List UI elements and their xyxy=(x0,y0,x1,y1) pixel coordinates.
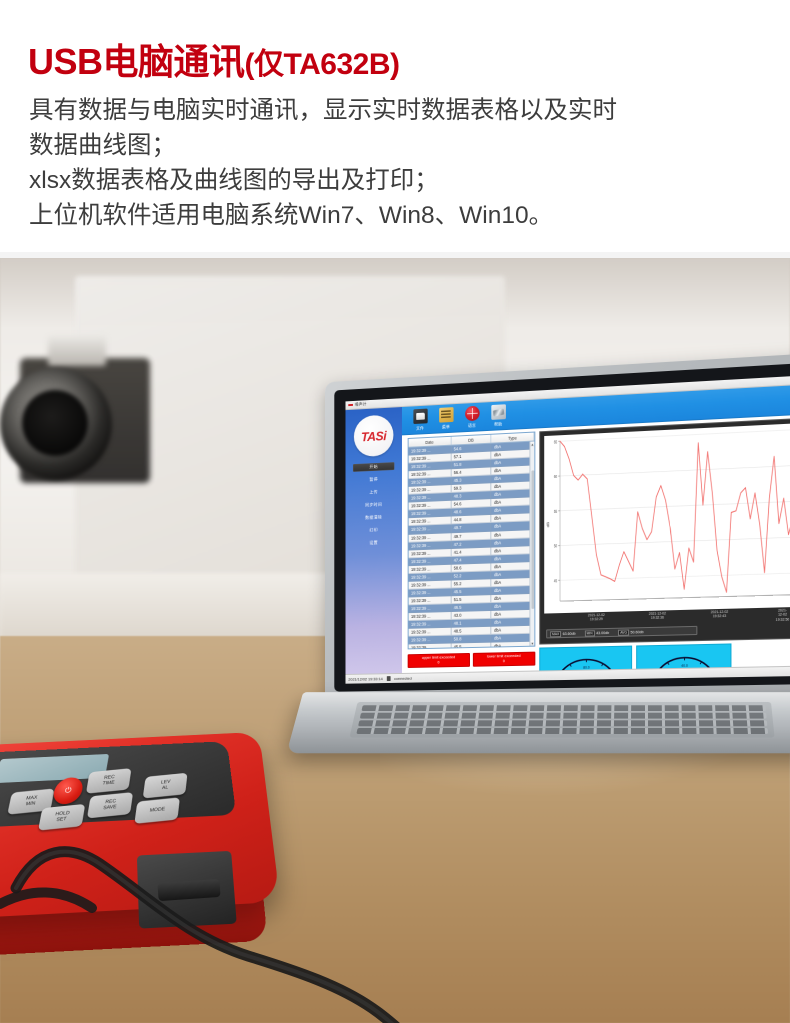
svg-text:55: 55 xyxy=(554,509,557,514)
status-timestamp: 2021/12/02 19:33:14 xyxy=(348,676,382,681)
globe-icon xyxy=(465,406,480,422)
menu-list-icon xyxy=(439,407,453,423)
toolbar-button-label: 帮助 xyxy=(494,421,502,427)
laptop-bezel: 噪声计 TASi 开始暂停上传同步时间数据清除打印设置 文件菜单语言帮助 xyxy=(334,363,790,692)
device-power-key[interactable]: ⏻ xyxy=(51,776,84,805)
page-title-main: USB电脑通讯 xyxy=(28,41,245,82)
device-key-level[interactable]: LEVAL xyxy=(143,773,188,799)
sidebar-item-label: 设置 xyxy=(369,540,377,546)
page-title: USB电脑通讯(仅TA632B) xyxy=(28,33,399,85)
toolbar-button-1[interactable]: 文件 xyxy=(410,408,431,431)
sidebar-item-1[interactable]: 开始 xyxy=(353,462,394,472)
background-camera-lens-inner xyxy=(22,390,88,456)
svg-text:60: 60 xyxy=(554,474,557,479)
toolbar-button-label: 语言 xyxy=(468,422,476,428)
toolbar-button-4[interactable]: 帮助 xyxy=(487,404,508,427)
toolbar-button-label: 文件 xyxy=(416,425,424,431)
content-area: Date DB Type 19:32:39 ...54.6dbA19:32:39… xyxy=(402,415,790,673)
sidebar-item-6[interactable]: 打印 xyxy=(353,526,394,535)
laptop-base xyxy=(286,692,790,753)
sidebar-item-3[interactable]: 上传 xyxy=(353,488,394,498)
product-photo-scene: 噪声计 TASi 开始暂停上传同步时间数据清除打印设置 文件菜单语言帮助 xyxy=(0,258,790,1023)
usb-plug-icon xyxy=(387,676,391,681)
sidebar-item-label: 上传 xyxy=(369,489,377,495)
scroll-down-icon[interactable]: ▼ xyxy=(530,641,534,646)
application-window: 噪声计 TASi 开始暂停上传同步时间数据清除打印设置 文件菜单语言帮助 xyxy=(345,375,790,683)
table-body[interactable]: 19:32:39 ...54.6dbA19:32:39 ...57.1dbA19… xyxy=(409,442,535,649)
device-key-rectime[interactable]: RECTIME xyxy=(86,768,132,794)
svg-text:dB: dB xyxy=(547,521,550,527)
chart-stat-value: 63.60db xyxy=(563,631,576,635)
chart-stat-key: MIN xyxy=(585,630,595,636)
sidebar-item-4[interactable]: 同步时间 xyxy=(353,500,394,510)
window-title: 噪声计 xyxy=(355,401,367,407)
svg-text:45: 45 xyxy=(554,579,557,584)
chart-plot-area: 4550556065dB xyxy=(544,423,790,613)
background-camera-top xyxy=(48,336,106,366)
toolbar-button-2[interactable]: 菜单 xyxy=(435,407,456,430)
scroll-up-icon[interactable]: ▲ xyxy=(530,442,534,447)
brand-logo-text: TASi xyxy=(361,429,386,443)
chart-x-tick-label: 2021-12-02 19:32:43 xyxy=(711,610,728,619)
brand-logo: TASi xyxy=(354,414,394,457)
sidebar-item-label: 暂停 xyxy=(369,477,377,483)
sidebar-item-2[interactable]: 暂停 xyxy=(353,475,394,485)
sidebar-item-label: 打印 xyxy=(369,527,377,533)
upper-limit-alert[interactable]: upper limit exceeded 0 xyxy=(408,653,470,668)
laptop-lid: 噪声计 TASi 开始暂停上传同步时间数据清除打印设置 文件菜单语言帮助 xyxy=(325,353,790,702)
cell-date: 19:32:39 ... xyxy=(409,644,452,649)
chart-x-tick-label: 2021-12-02 19:32:36 xyxy=(649,611,666,620)
table-scrollbar[interactable]: ▲ ▼ xyxy=(529,442,534,646)
chart-stat-key: AVG xyxy=(618,629,629,635)
chart-stat-chip: MAX63.60db xyxy=(550,630,575,637)
lower-limit-alert[interactable]: lower limit exceeded 0 xyxy=(472,652,535,667)
sidebar: TASi 开始暂停上传同步时间数据清除打印设置 xyxy=(345,407,401,674)
upper-limit-count: 0 xyxy=(437,660,439,665)
lower-limit-count: 0 xyxy=(503,659,505,664)
svg-text:65: 65 xyxy=(554,440,557,445)
laptop-screen: 噪声计 TASi 开始暂停上传同步时间数据清除打印设置 文件菜单语言帮助 xyxy=(345,375,790,683)
page-description: 具有数据与电脑实时通讯，显示实时数据表格以及实时 数据曲线图； xlsx数据表格… xyxy=(29,93,769,233)
chart-stat-value: 43.00db xyxy=(596,630,609,634)
chart-stat-chip: AVG50.60db xyxy=(618,629,643,636)
device-key-recsave[interactable]: RECSAVE xyxy=(87,792,133,818)
window-icon xyxy=(348,404,353,406)
help-icon xyxy=(491,404,506,420)
page-title-suffix: (仅TA632B) xyxy=(245,48,400,81)
chart-x-tick-label: 2021-12-02 19:32:29 xyxy=(588,613,605,622)
data-table-panel[interactable]: Date DB Type 19:32:39 ...54.6dbA19:32:39… xyxy=(408,432,536,650)
device-key-mode[interactable]: MODE xyxy=(134,797,180,823)
device-keypad-panel: MAXMIN ⏻ RECTIME LEVAL HOLDSET RECSAVE M… xyxy=(0,741,236,827)
sidebar-item-label: 数据清除 xyxy=(365,514,382,521)
sidebar-item-5[interactable]: 数据清除 xyxy=(353,513,394,522)
chart-stat-value: 50.60db xyxy=(631,630,644,634)
file-icon xyxy=(413,409,427,424)
promo-header: USB电脑通讯(仅TA632B) 具有数据与电脑实时通讯，显示实时数据表格以及实… xyxy=(0,0,790,258)
laptop-keyboard xyxy=(349,702,774,737)
chart-stat-chip: MIN43.00db xyxy=(585,629,610,636)
toolbar-button-label: 菜单 xyxy=(442,424,450,430)
chart-stat-key: MAX xyxy=(550,631,561,637)
limit-alert-bar: upper limit exceeded 0 lower limit excee… xyxy=(408,652,536,668)
chart-x-tick-label: 2021-12-02 19:32:50 xyxy=(776,608,790,622)
svg-text:50: 50 xyxy=(554,544,557,549)
cell-type: dbA xyxy=(492,642,535,649)
cell-db: 45.5 xyxy=(451,643,491,649)
line-chart: 4550556065dB xyxy=(544,423,790,613)
sound-level-meter-device: MAXMIN ⏻ RECTIME LEVAL HOLDSET RECSAVE M… xyxy=(0,713,300,1013)
scrollbar-thumb[interactable] xyxy=(531,470,534,609)
sidebar-item-7[interactable]: 设置 xyxy=(353,538,394,547)
toolbar-button-3[interactable]: 语言 xyxy=(461,406,482,429)
chart-panel[interactable]: 4550556065dB 2021-12-02 19:32:292021-12-… xyxy=(539,418,790,645)
laptop: 噪声计 TASi 开始暂停上传同步时间数据清除打印设置 文件菜单语言帮助 xyxy=(300,368,790,788)
sidebar-item-label: 同步时间 xyxy=(365,502,382,509)
status-connection: connected xyxy=(394,676,412,681)
sidebar-item-label: 开始 xyxy=(369,464,377,470)
